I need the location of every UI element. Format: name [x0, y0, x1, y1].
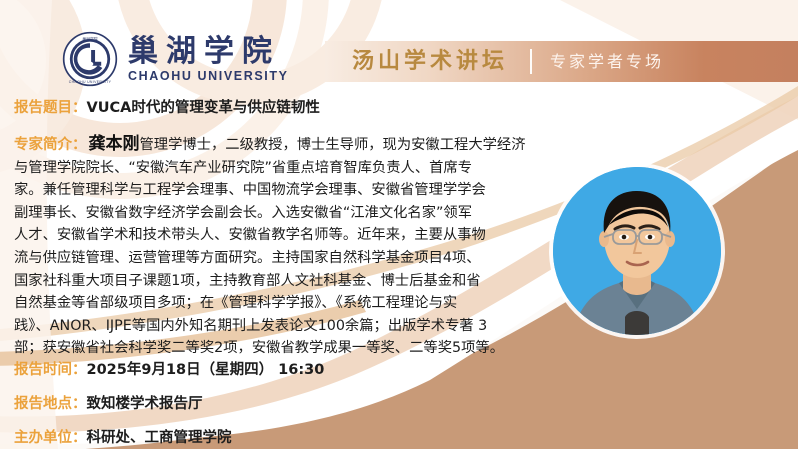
bio-line: 国家社科重大项目子课题1项，主持教育部人文社科基金、博士后基金和省 [14, 270, 544, 293]
time-value: 2025年9月18日（星期四） 16:30 [87, 358, 325, 379]
svg-text:巢湖学院: 巢湖学院 [82, 37, 98, 42]
bio-line: 副理事长、安徽省数字经济学会副会长。入选安徽省“江淮文化名家”领军 [14, 202, 544, 225]
logo-name-en: CHAOHU UNIVERSITY [128, 70, 289, 83]
banner: 汤山学术讲坛 专家学者专场 [325, 41, 798, 82]
organizer-value: 科研处、工商管理学院 [87, 426, 232, 447]
speaker-name: 龚本刚 [89, 134, 140, 154]
bio-line: 管理学博士，二级教授，博士生导师，现为安徽工程大学经济 [140, 137, 526, 153]
svg-text:CHAOHU UNIVERSITY: CHAOHU UNIVERSITY [69, 80, 112, 84]
time-label: 报告时间： [14, 358, 87, 379]
place-row: 报告地点： 致知楼学术报告厅 [14, 392, 203, 413]
bio-label: 专家简介： [14, 137, 87, 153]
organizer-row: 主办单位： 科研处、工商管理学院 [14, 426, 232, 447]
bio-line: 部；获安徽省社会科学奖二等奖2项，安徽省教学成果一等奖、二等奖5项等。 [14, 337, 544, 360]
place-label: 报告地点： [14, 392, 87, 413]
bio-line: 人才、安徽省学术和技术带头人、安徽省教学名师等。近年来，主要从事物 [14, 224, 544, 247]
banner-subtitle: 专家学者专场 [550, 54, 664, 70]
banner-separator [530, 49, 532, 74]
topic-row: 报告题目： VUCA时代的管理变革与供应链韧性 [14, 96, 320, 117]
speaker-portrait [553, 167, 721, 335]
bio-line: 践》、ANOR、IJPE等国内外知名期刊上发表论文100余篇；出版学术专著 3 [14, 315, 544, 338]
topic-label: 报告题目： [14, 96, 87, 117]
place-value: 致知楼学术报告厅 [87, 392, 203, 413]
speaker-bio: 专家简介：龚本刚管理学博士，二级教授，博士生导师，现为安徽工程大学经济 与管理学… [14, 133, 544, 360]
bio-line: 家。兼任管理科学与工程学会理事、中国物流学会理事、安徽省管理学学会 [14, 179, 544, 202]
bio-line: 与管理学院院长、“安徽汽车产业研究院”省重点培育智库负责人、首席专 [14, 157, 544, 180]
bio-line: 流与供应链管理、运营管理等方面研究。主持国家自然科学基金项目4项、 [14, 247, 544, 270]
chaohu-university-seal-icon: 巢湖学院 CHAOHU UNIVERSITY [62, 31, 118, 87]
topic-value: VUCA时代的管理变革与供应链韧性 [87, 96, 320, 117]
logo-name-cn: 巢湖学院 [128, 36, 289, 68]
bio-line: 自然基金等省部级项目多项；在《管理科学学报》、《系统工程理论与实 [14, 292, 544, 315]
banner-title: 汤山学术讲坛 [352, 51, 508, 73]
organizer-label: 主办单位： [14, 426, 87, 447]
time-row: 报告时间： 2025年9月18日（星期四） 16:30 [14, 358, 324, 379]
poster-canvas: 巢湖学院 CHAOHU UNIVERSITY 巢湖学院 CHAOHU UNIVE… [0, 0, 798, 449]
university-logo: 巢湖学院 CHAOHU UNIVERSITY 巢湖学院 CHAOHU UNIVE… [62, 31, 289, 87]
